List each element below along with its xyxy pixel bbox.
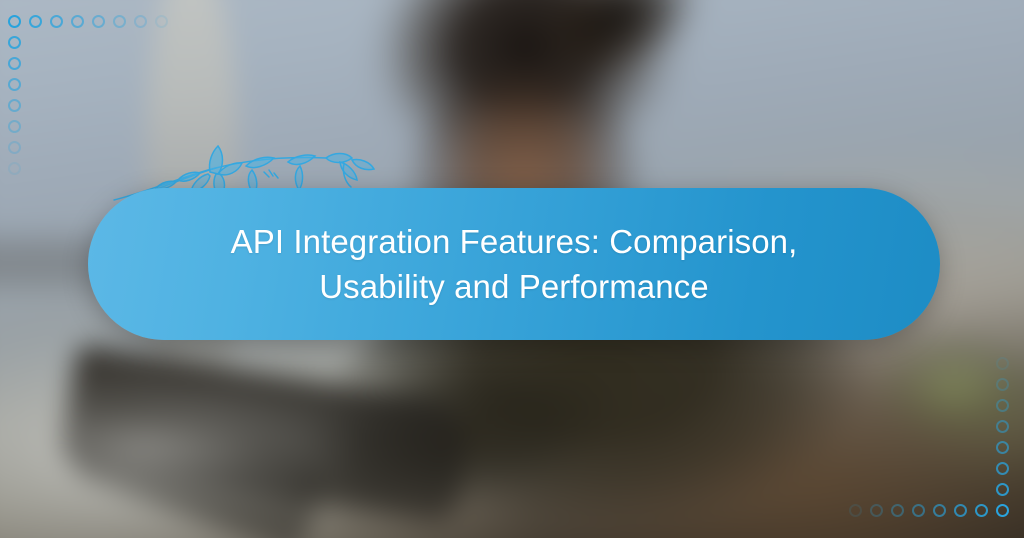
decorative-dot: [996, 378, 1009, 391]
decorative-dot: [996, 420, 1009, 433]
decorative-dot: [996, 441, 1009, 454]
decorative-dot: [29, 15, 42, 28]
decorative-dot: [891, 504, 904, 517]
decorative-dot: [996, 399, 1009, 412]
decorative-dot: [954, 504, 967, 517]
decorative-dot: [996, 462, 1009, 475]
page-title-line-2: Usability and Performance: [231, 264, 798, 309]
decorative-dot: [996, 483, 1009, 496]
page-title-line-1: API Integration Features: Comparison,: [231, 219, 798, 264]
decorative-dot: [8, 99, 21, 112]
decorative-dot: [92, 15, 105, 28]
decorative-dot: [50, 15, 63, 28]
decorative-dot: [912, 504, 925, 517]
decorative-dot: [8, 15, 21, 28]
featured-image-canvas: API Integration Features: Comparison, Us…: [0, 0, 1024, 538]
decorative-dot: [8, 141, 21, 154]
decorative-dot: [933, 504, 946, 517]
decorative-dot: [134, 15, 147, 28]
decorative-dot: [8, 78, 21, 91]
decorative-dot: [975, 504, 988, 517]
title-banner: API Integration Features: Comparison, Us…: [88, 188, 940, 340]
decorative-dot: [849, 504, 862, 517]
photo-foreground-haze: [0, 374, 360, 524]
decorative-dot: [113, 15, 126, 28]
decorative-dot: [8, 162, 21, 175]
decorative-dot: [155, 15, 168, 28]
decorative-dot: [71, 15, 84, 28]
decorative-dot: [870, 504, 883, 517]
decorative-dot: [8, 120, 21, 133]
decorative-dot: [996, 504, 1009, 517]
decorative-dot: [8, 36, 21, 49]
decorative-dot: [8, 57, 21, 70]
page-title: API Integration Features: Comparison, Us…: [231, 219, 798, 309]
decorative-dot: [996, 357, 1009, 370]
